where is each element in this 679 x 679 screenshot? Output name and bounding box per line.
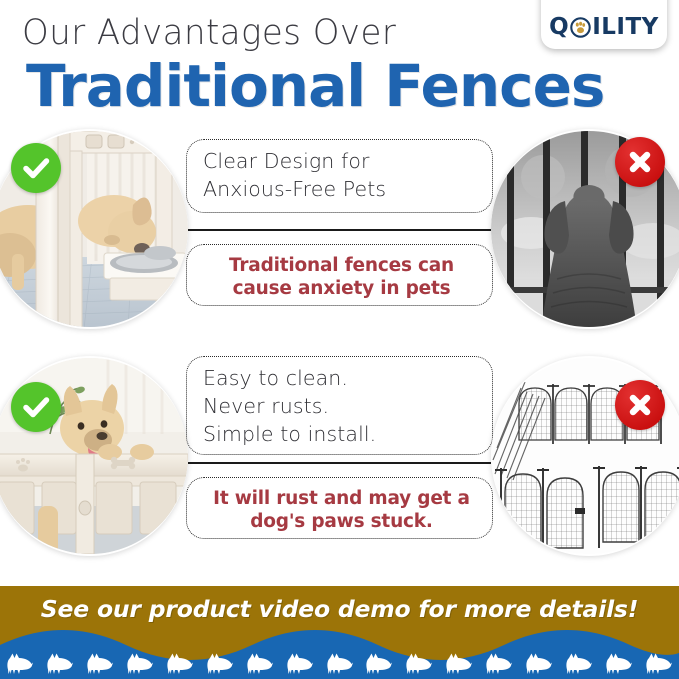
check-icon <box>11 382 61 432</box>
callout-advantage-2: Easy to clean. Never rusts. Simple to in… <box>186 356 493 455</box>
callout-drawback-2: It will rust and may get a dog's paws st… <box>186 477 493 539</box>
callout-advantage-2-line2: Never rusts. <box>203 392 480 420</box>
cat-silhouette-icon <box>6 651 34 675</box>
page-title: Traditional Fences <box>26 55 604 117</box>
banner-cta-text: See our product video demo for more deta… <box>0 595 679 623</box>
cross-icon <box>615 380 665 430</box>
brand-logo-text: Q ILITY <box>549 14 659 40</box>
cat-silhouette-icon <box>405 651 433 675</box>
bottom-banner: See our product video demo for more deta… <box>0 586 679 679</box>
cat-silhouette-icon <box>485 651 513 675</box>
cat-silhouette-icon <box>605 651 633 675</box>
cat-silhouette-icon <box>565 651 593 675</box>
cat-silhouette-row <box>0 647 679 675</box>
cat-silhouette-icon <box>326 651 354 675</box>
check-icon <box>11 143 61 193</box>
callout-advantage-2-line3: Simple to install. <box>203 420 480 448</box>
cat-silhouette-icon <box>286 651 314 675</box>
brand-logo: Q ILITY <box>541 0 667 49</box>
callout-advantage-1: Clear Design for Anxious-Free Pets <box>186 139 493 213</box>
brand-logo-prefix: Q <box>549 14 569 40</box>
page-subtitle: Our Advantages Over <box>22 14 396 52</box>
callout-drawback-1: Traditional fences can cause anxiety in … <box>186 244 493 306</box>
callout-drawback-2-line1: It will rust and may get a <box>203 487 480 510</box>
cat-silhouette-icon <box>645 651 673 675</box>
comparison-row-anxiety: Clear Design for Anxious-Free Pets Tradi… <box>0 125 679 340</box>
cat-silhouette-icon <box>365 651 393 675</box>
cat-silhouette-icon <box>206 651 234 675</box>
cat-silhouette-icon <box>166 651 194 675</box>
cross-icon <box>615 137 665 187</box>
callout-drawback-1-line1: Traditional fences can <box>203 254 480 277</box>
advantages-infographic: Our Advantages Over Traditional Fences Q… <box>0 0 679 679</box>
row2-divider <box>188 462 491 464</box>
paw-print-icon <box>569 16 592 39</box>
header: Our Advantages Over Traditional Fences Q… <box>0 0 679 125</box>
callout-advantage-1-line2: Anxious-Free Pets <box>203 175 480 203</box>
cat-silhouette-icon <box>126 651 154 675</box>
comparison-row-rust: Easy to clean. Never rusts. Simple to in… <box>0 352 679 567</box>
callout-advantage-2-line1: Easy to clean. <box>203 364 480 392</box>
cat-silhouette-icon <box>445 651 473 675</box>
callout-drawback-1-line2: cause anxiety in pets <box>203 277 480 300</box>
cat-silhouette-icon <box>86 651 114 675</box>
row1-divider <box>188 229 491 231</box>
row2-text-column: Easy to clean. Never rusts. Simple to in… <box>186 352 493 567</box>
cat-silhouette-icon <box>246 651 274 675</box>
row1-text-column: Clear Design for Anxious-Free Pets Tradi… <box>186 125 493 340</box>
brand-logo-suffix: ILITY <box>592 14 659 40</box>
cat-silhouette-icon <box>46 651 74 675</box>
callout-drawback-2-line2: dog's paws stuck. <box>203 510 480 533</box>
callout-advantage-1-line1: Clear Design for <box>203 147 480 175</box>
cat-silhouette-icon <box>525 651 553 675</box>
